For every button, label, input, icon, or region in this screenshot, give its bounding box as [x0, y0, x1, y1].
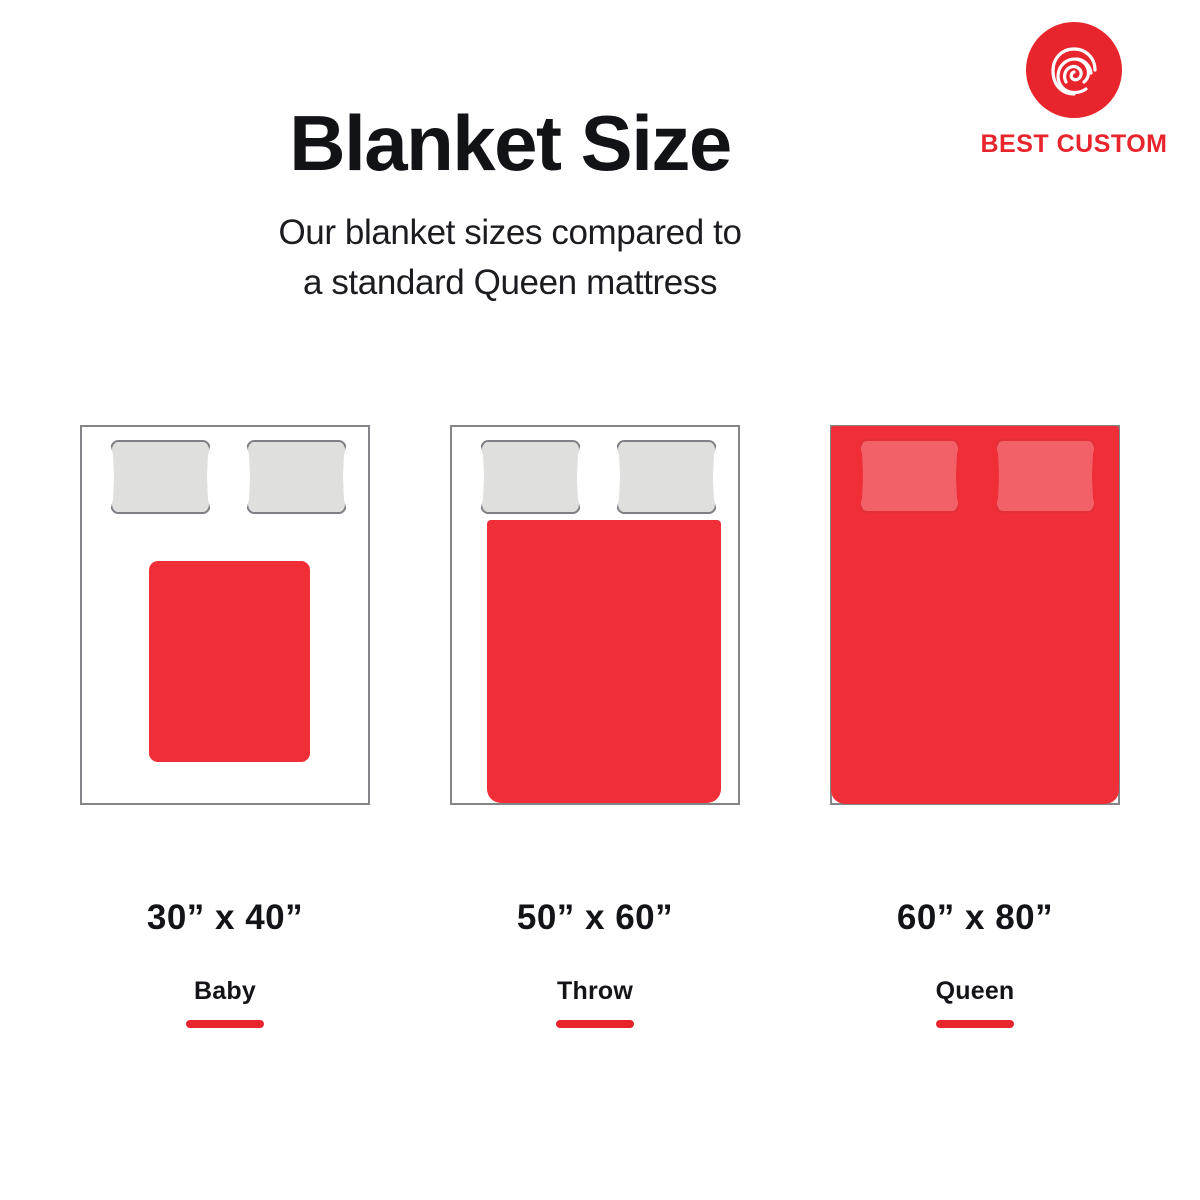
pillow-left [480, 440, 581, 514]
bed-diagram-queen [830, 425, 1120, 805]
accent-underline [556, 1020, 634, 1028]
page-subtitle: Our blanket sizes compared to a standard… [0, 208, 1110, 307]
blanket-throw [487, 520, 721, 803]
blanket-queen [831, 426, 1119, 804]
caption-throw: 50” x 60” Throw [450, 900, 740, 1028]
blanket-baby [149, 561, 310, 762]
bed-diagram-throw [450, 425, 740, 805]
subtitle-line-1: Our blanket sizes compared to [278, 213, 741, 252]
size-label: Baby [80, 979, 370, 1004]
size-label: Throw [450, 979, 740, 1004]
pillow-right [246, 440, 347, 514]
pillow-right [616, 440, 717, 514]
size-dimensions: 60” x 80” [830, 900, 1120, 935]
header-block: Blanket Size Our blanket sizes compared … [0, 104, 1200, 307]
pillow-left [110, 440, 211, 514]
page-title: Blanket Size [0, 104, 1110, 182]
pillow-left [859, 439, 960, 513]
bed-comparison-row [0, 425, 1200, 805]
pillow-right [995, 439, 1096, 513]
subtitle-line-2: a standard Queen mattress [303, 263, 717, 302]
accent-underline [936, 1020, 1014, 1028]
bed-diagram-baby [80, 425, 370, 805]
caption-row: 30” x 40” Baby 50” x 60” Throw 60” x 80”… [0, 900, 1200, 1060]
caption-baby: 30” x 40” Baby [80, 900, 370, 1028]
size-dimensions: 50” x 60” [450, 900, 740, 935]
size-dimensions: 30” x 40” [80, 900, 370, 935]
caption-queen: 60” x 80” Queen [830, 900, 1120, 1028]
size-label: Queen [830, 979, 1120, 1004]
accent-underline [186, 1020, 264, 1028]
